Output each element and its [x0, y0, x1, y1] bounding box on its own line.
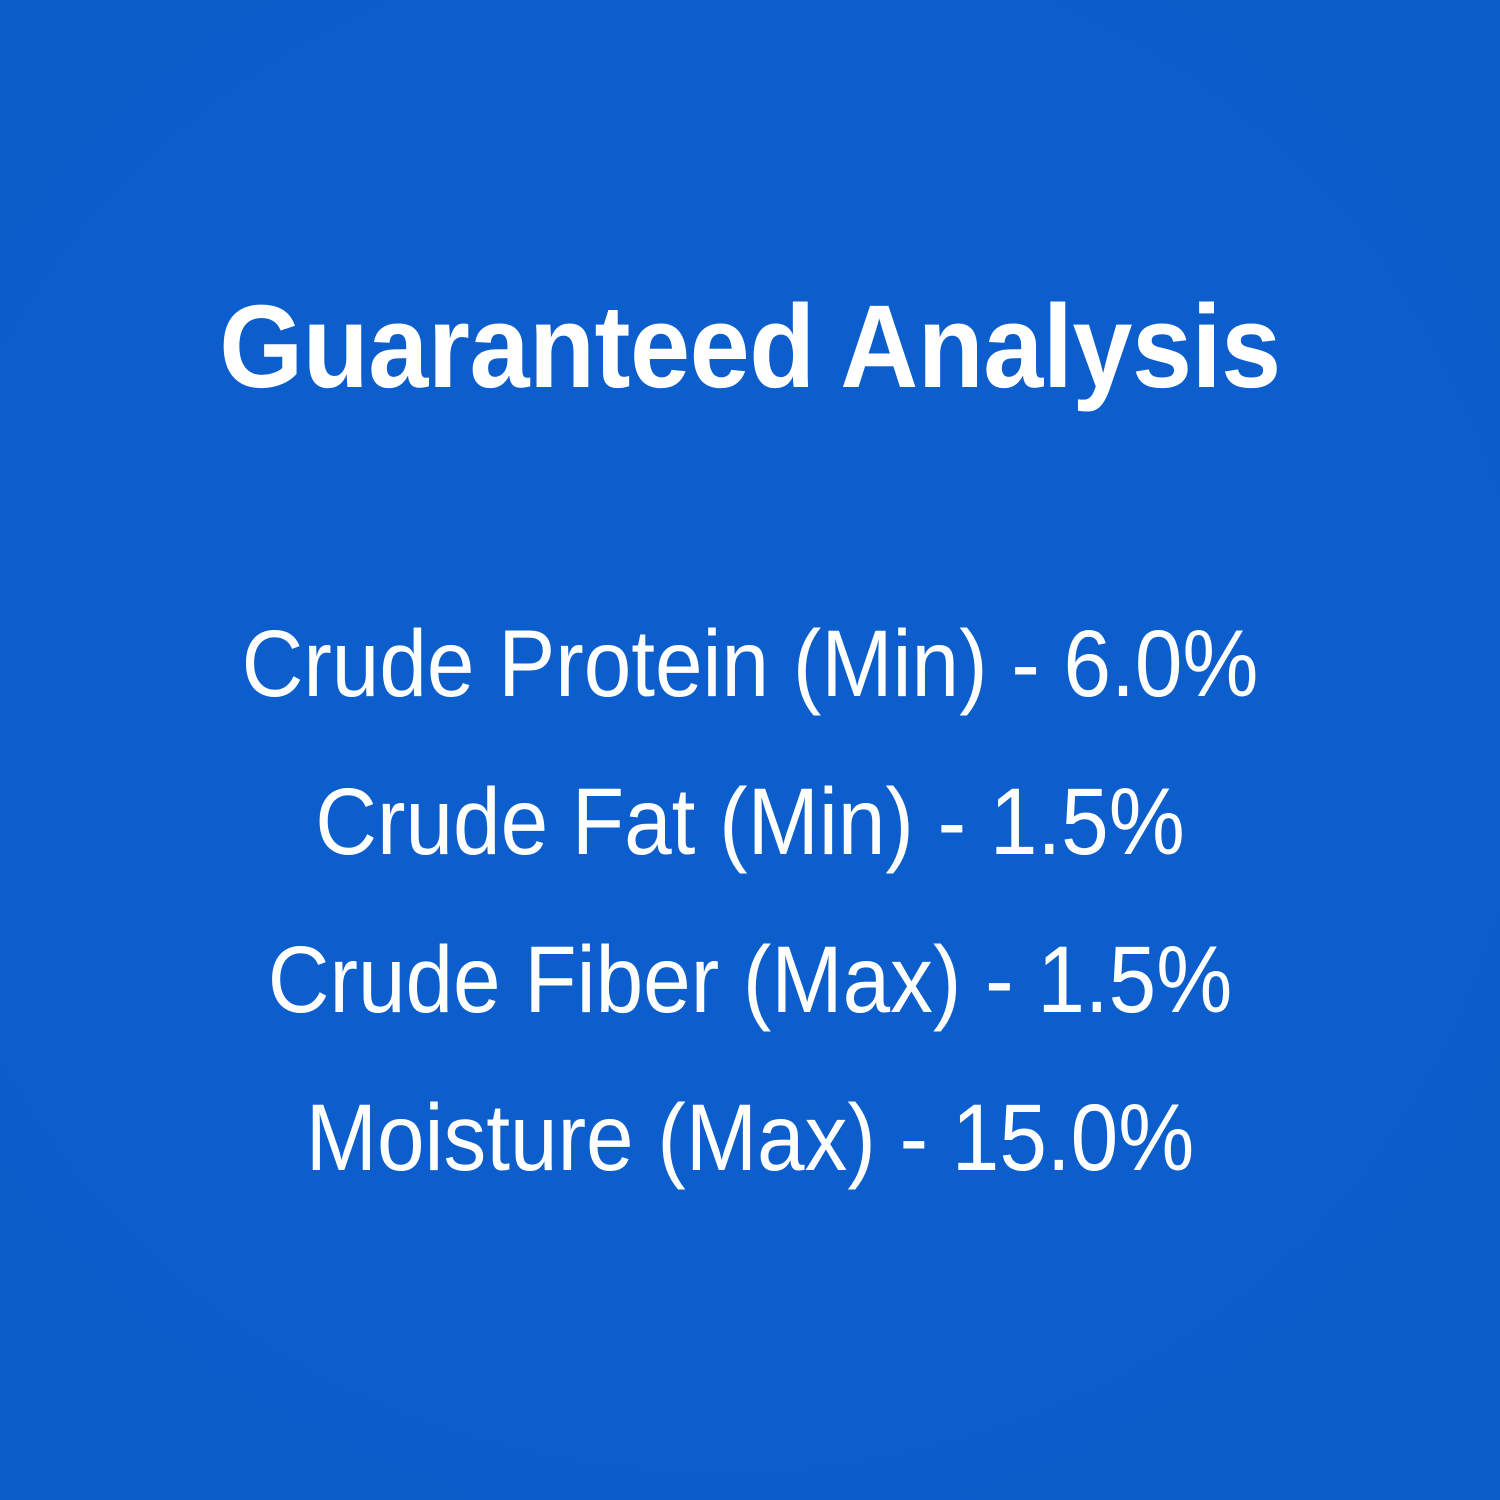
analysis-list: Crude Protein (Min) - 6.0% Crude Fat (Mi…	[0, 585, 1500, 1217]
analysis-row-crude-fat: Crude Fat (Min) - 1.5%	[75, 743, 1425, 901]
guaranteed-analysis-panel: Guaranteed Analysis Crude Protein (Min) …	[0, 0, 1500, 1500]
analysis-row-crude-fiber: Crude Fiber (Max) - 1.5%	[75, 901, 1425, 1059]
panel-content: Guaranteed Analysis Crude Protein (Min) …	[0, 0, 1500, 1500]
analysis-row-crude-protein: Crude Protein (Min) - 6.0%	[75, 585, 1425, 743]
page-title: Guaranteed Analysis	[64, 288, 1437, 406]
analysis-row-moisture: Moisture (Max) - 15.0%	[75, 1059, 1425, 1217]
